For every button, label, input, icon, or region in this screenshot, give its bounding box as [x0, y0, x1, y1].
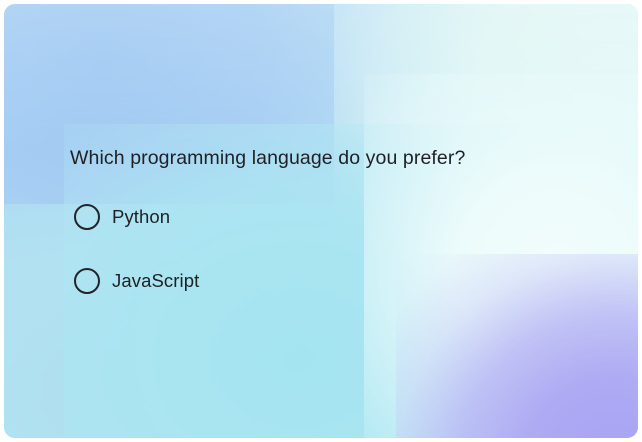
radio-option-python[interactable]: Python — [74, 204, 170, 230]
radio-option-label: JavaScript — [112, 268, 199, 294]
survey-content: Which programming language do you prefer… — [4, 4, 638, 438]
radio-option-javascript[interactable]: JavaScript — [74, 268, 199, 294]
radio-option-label: Python — [112, 204, 170, 230]
radio-button-icon[interactable] — [74, 268, 100, 294]
radio-button-icon[interactable] — [74, 204, 100, 230]
question-text: Which programming language do you prefer… — [70, 144, 465, 172]
survey-card: Which programming language do you prefer… — [4, 4, 638, 438]
